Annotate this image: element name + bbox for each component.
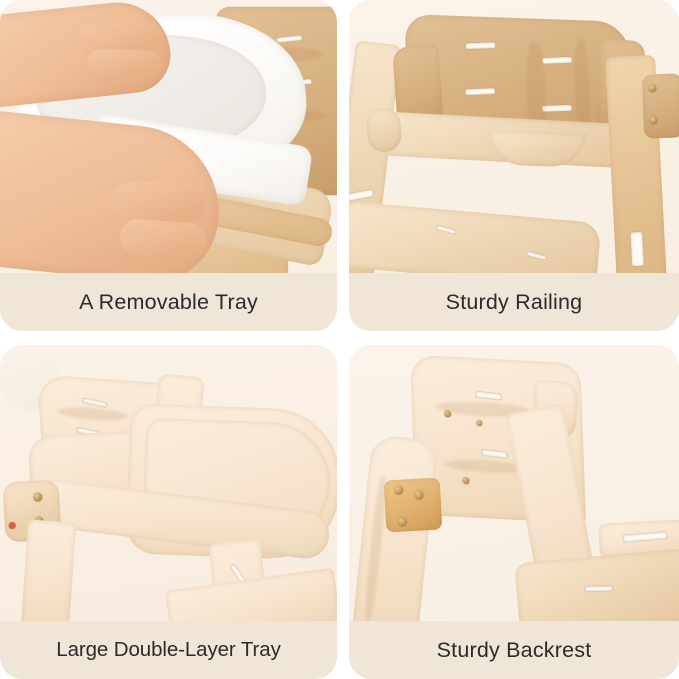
peg-hole-icon: [462, 477, 469, 484]
caption-bar-sturdy-backrest: Sturdy Backrest: [349, 621, 679, 679]
feature-grid: A Removable Tray: [0, 0, 679, 679]
seat-slot-icon: [436, 225, 456, 234]
caption-text: Large Double-Layer Tray: [56, 638, 280, 662]
railing-bracket: [642, 73, 679, 138]
backrest-slot-icon: [542, 105, 573, 112]
finger: [87, 49, 161, 76]
product-photo-removable-tray: [0, 0, 337, 273]
screw-icon: [649, 116, 657, 124]
peg-hole-icon: [476, 420, 482, 426]
safety-railing-left-end: [366, 107, 403, 153]
feature-card-large-double-layer-tray[interactable]: Large Double-Layer Tray: [0, 345, 337, 679]
post-slot-icon: [349, 189, 374, 201]
chair-seat-board: [349, 201, 601, 273]
caption-bar-sturdy-railing: Sturdy Railing: [349, 273, 679, 331]
seat-slot-icon: [526, 251, 546, 260]
screw-icon: [398, 517, 407, 526]
finger: [110, 182, 206, 222]
caption-text: Sturdy Backrest: [437, 638, 592, 663]
backrest-slot-icon: [276, 35, 303, 43]
product-photo-sturdy-backrest: [349, 345, 679, 621]
screw-icon: [648, 84, 656, 92]
caption-bar-removable-tray: A Removable Tray: [0, 273, 337, 331]
backrest-slot-icon: [465, 42, 496, 49]
feature-card-removable-tray[interactable]: A Removable Tray: [0, 0, 337, 331]
feature-card-sturdy-backrest[interactable]: Sturdy Backrest: [349, 345, 679, 679]
backrest-slot-icon: [542, 57, 573, 64]
backrest-slot-icon: [83, 398, 108, 408]
red-dot-icon: [9, 522, 16, 529]
seat-slot-icon: [585, 586, 613, 591]
backrest-slot-icon: [481, 449, 507, 458]
backrest-slot-icon: [465, 88, 496, 95]
screw-icon: [394, 485, 403, 494]
caption-bar-double-layer-tray: Large Double-Layer Tray: [0, 621, 337, 679]
caption-text: A Removable Tray: [79, 290, 258, 315]
finger: [119, 218, 207, 260]
screw-icon: [414, 490, 423, 499]
caption-text: Sturdy Railing: [446, 290, 583, 315]
rail-slot-icon: [623, 532, 667, 543]
screw-icon: [33, 492, 42, 501]
height-adjust-bracket: [384, 478, 443, 533]
feature-card-sturdy-railing[interactable]: Sturdy Railing: [349, 0, 679, 331]
wood-grain: [57, 405, 128, 422]
chair-leg-left: [20, 519, 77, 621]
product-photo-double-layer-tray: [0, 345, 337, 621]
post-slot-icon: [630, 232, 644, 267]
backrest-slot-icon: [475, 391, 501, 400]
product-photo-sturdy-railing: [349, 0, 679, 273]
